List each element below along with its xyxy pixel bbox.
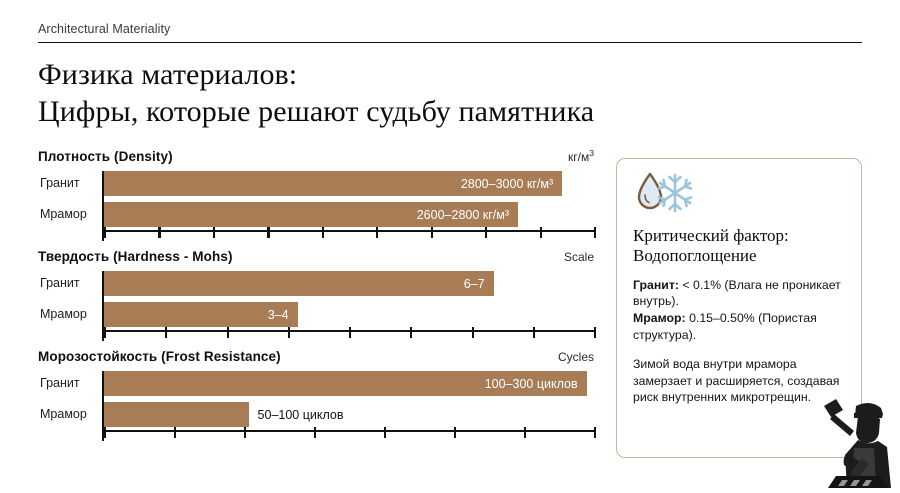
header-divider (38, 42, 862, 43)
chart-density-bar-marble: 2600–2800 кг/м³ (104, 202, 518, 227)
chart-frost-resistance-row-marble: Мрамор 50–100 циклов (104, 402, 594, 427)
chart-density-unit: кг/м3 (568, 148, 594, 164)
chart-density-row-marble: Мрамор 2600–2800 кг/м³ (104, 202, 594, 227)
chart-hardness-axis-area: Гранит 6–7 Мрамор 3–4 (102, 271, 594, 341)
axis-tick (376, 227, 378, 238)
chart-frost-resistance-bar-granite: 100–300 циклов (104, 371, 587, 396)
chart-frost-resistance-header: Морозостойкость (Frost Resistance) Cycle… (38, 349, 594, 364)
chart-density-title: Плотность (Density) (38, 149, 173, 164)
chart-hardness-bar-marble: 3–4 (104, 302, 298, 327)
chart-density-value-granite: 2800–3000 кг/м³ (461, 177, 562, 191)
page-header: Architectural Materiality (38, 22, 862, 43)
chart-frost-resistance-unit: Cycles (558, 350, 594, 364)
axis-tick (227, 327, 229, 338)
chart-density-unit-exponent: 3 (589, 148, 594, 158)
chart-frost-resistance-axis (104, 430, 594, 441)
axis-tick (349, 327, 351, 338)
chart-hardness-label-granite: Гранит (40, 277, 98, 290)
axis-tick (104, 227, 106, 238)
axis-tick (384, 427, 386, 438)
chart-density-row-granite: Гранит 2800–3000 кг/м³ (104, 171, 594, 196)
chart-hardness-unit: Scale (564, 250, 594, 264)
axis-tick (594, 327, 596, 338)
axis-tick (410, 327, 412, 338)
chart-density-label-marble: Мрамор (40, 208, 98, 221)
chart-density-axis-area: Гранит 2800–3000 кг/м³ Мрамор 2600–2800 … (102, 171, 594, 241)
chart-frost-resistance-label-marble: Мрамор (40, 408, 98, 421)
axis-tick (158, 227, 160, 238)
charts-column: Плотность (Density) кг/м3 Гранит 2800–30… (38, 148, 594, 449)
axis-tick (213, 227, 215, 238)
axis-tick (431, 227, 433, 238)
chart-density-axis (104, 230, 594, 241)
chart-hardness-value-marble: 3–4 (268, 308, 298, 322)
panel-heading-line-2: Водопоглощение (633, 246, 845, 266)
chart-hardness-label-marble: Мрамор (40, 308, 98, 321)
chart-frost-resistance-value-marble: 50–100 циклов (258, 408, 344, 422)
chart-frost-resistance: Морозостойкость (Frost Resistance) Cycle… (38, 349, 594, 441)
panel-granite-label: Гранит: (633, 278, 679, 292)
page-title: Физика материалов: Цифры, которые решают… (38, 56, 868, 130)
axis-tick (288, 327, 290, 338)
chart-hardness-row-granite: Гранит 6–7 (104, 271, 594, 296)
water-drop-icon (639, 174, 661, 208)
chart-hardness-axis (104, 330, 594, 341)
panel-absorption-values: Гранит: < 0.1% (Влага не проникает внутр… (633, 277, 845, 343)
chart-frost-resistance-bar-marble: 50–100 циклов (104, 402, 249, 427)
panel-heading: Критический фактор: Водопоглощение (633, 226, 845, 267)
chart-density-header: Плотность (Density) кг/м3 (38, 148, 594, 164)
axis-tick (594, 427, 596, 438)
chart-frost-resistance-row-granite: Гранит 100–300 циклов (104, 371, 594, 396)
axis-tick (267, 227, 269, 238)
chart-hardness-bar-granite: 6–7 (104, 271, 494, 296)
axis-tick (485, 227, 487, 238)
page-title-line-2: Цифры, которые решают судьбу памятника (38, 93, 868, 130)
chart-hardness-plot: Гранит 6–7 Мрамор 3–4 (38, 271, 594, 341)
axis-tick (322, 227, 324, 238)
chart-frost-resistance-title: Морозостойкость (Frost Resistance) (38, 349, 281, 364)
chart-hardness-header: Твердость (Hardness - Mohs) Scale (38, 249, 594, 264)
chart-hardness-row-marble: Мрамор 3–4 (104, 302, 594, 327)
chart-density: Плотность (Density) кг/м3 Гранит 2800–30… (38, 148, 594, 241)
panel-marble-label: Мрамор: (633, 311, 686, 325)
axis-tick (524, 427, 526, 438)
snowflake-icon (659, 175, 691, 211)
chart-density-bar-granite: 2800–3000 кг/м³ (104, 171, 562, 196)
chart-density-plot: Гранит 2800–3000 кг/м³ Мрамор 2600–2800 … (38, 171, 594, 241)
chart-frost-resistance-value-granite: 100–300 циклов (485, 377, 587, 391)
panel-heading-line-1: Критический фактор: (633, 226, 845, 246)
axis-tick (533, 327, 535, 338)
axis-tick (540, 227, 542, 238)
kicker-text: Architectural Materiality (38, 22, 862, 42)
axis-tick (594, 227, 596, 238)
axis-tick (244, 427, 246, 438)
chart-frost-resistance-axis-area: Гранит 100–300 циклов Мрамор 50–100 цикл… (102, 371, 594, 441)
panel-body: Гранит: < 0.1% (Влага не проникает внутр… (633, 277, 845, 406)
panel-icon-group (633, 171, 845, 220)
chart-hardness-title: Твердость (Hardness - Mohs) (38, 249, 233, 264)
axis-tick (104, 327, 106, 338)
axis-tick (174, 427, 176, 438)
chart-density-unit-base: кг/м (568, 150, 589, 164)
stonemason-illustration (806, 392, 898, 488)
chart-hardness-value-granite: 6–7 (464, 277, 494, 291)
axis-tick (104, 427, 106, 438)
chart-frost-resistance-label-granite: Гранит (40, 377, 98, 390)
axis-tick (165, 327, 167, 338)
page-title-line-1: Физика материалов: (38, 56, 868, 93)
axis-tick (454, 427, 456, 438)
chart-frost-resistance-plot: Гранит 100–300 циклов Мрамор 50–100 цикл… (38, 371, 594, 441)
chart-density-value-marble: 2600–2800 кг/м³ (417, 208, 518, 222)
axis-tick (314, 427, 316, 438)
axis-tick (472, 327, 474, 338)
chart-hardness: Твердость (Hardness - Mohs) Scale Гранит… (38, 249, 594, 341)
chart-density-label-granite: Гранит (40, 177, 98, 190)
